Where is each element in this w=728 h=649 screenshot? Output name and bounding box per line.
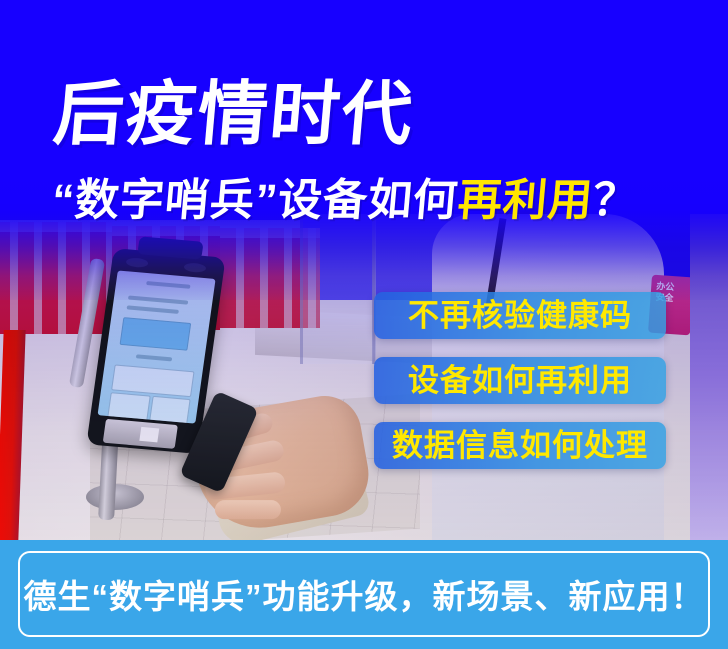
kiosk-display-line (128, 295, 188, 304)
kiosk-display-card (120, 317, 192, 351)
feature-pill-label: 数据信息如何处理 (392, 430, 648, 461)
glass-partition (300, 214, 376, 364)
feature-pill-health-code[interactable]: 不再核验健康码 (374, 292, 666, 339)
kiosk-display (98, 270, 216, 423)
kiosk-display-card (111, 364, 194, 397)
page-subtitle: “数字哨兵”设备如何再利用？ (50, 174, 641, 228)
camera-icon (183, 262, 206, 273)
feature-list: 不再核验健康码 设备如何再利用 数据信息如何处理 (374, 292, 666, 487)
finger (215, 500, 281, 519)
banner-frame: 德生“数字哨兵”功能升级，新场景、新应用！ (18, 551, 710, 637)
kiosk-display-card (149, 396, 191, 424)
feature-pill-device-reuse[interactable]: 设备如何再利用 (374, 357, 666, 404)
kiosk-display-line (136, 354, 172, 361)
kiosk-display-line (127, 305, 179, 313)
banner-text: 德生“数字哨兵”功能升级，新场景、新应用！ (24, 570, 705, 618)
page-title: 后疫情时代 (51, 74, 418, 154)
feature-pill-label: 不再核验健康码 (408, 300, 632, 331)
subtitle-suffix: ？ (591, 176, 640, 225)
promo-poster: 办公安全 (0, 0, 728, 649)
bottom-banner: 德生“数字哨兵”功能升级，新场景、新应用！ (0, 540, 728, 649)
subtitle-highlight: 再利用 (456, 176, 595, 225)
feature-pill-data-handling[interactable]: 数据信息如何处理 (374, 422, 666, 469)
right-purple-column (690, 214, 728, 540)
subtitle-prefix: “数字哨兵”设备如何 (50, 176, 460, 225)
camera-icon (126, 257, 149, 268)
feature-pill-label: 设备如何再利用 (408, 365, 632, 396)
kiosk-display-line (146, 281, 190, 289)
reader-chip (139, 427, 159, 442)
